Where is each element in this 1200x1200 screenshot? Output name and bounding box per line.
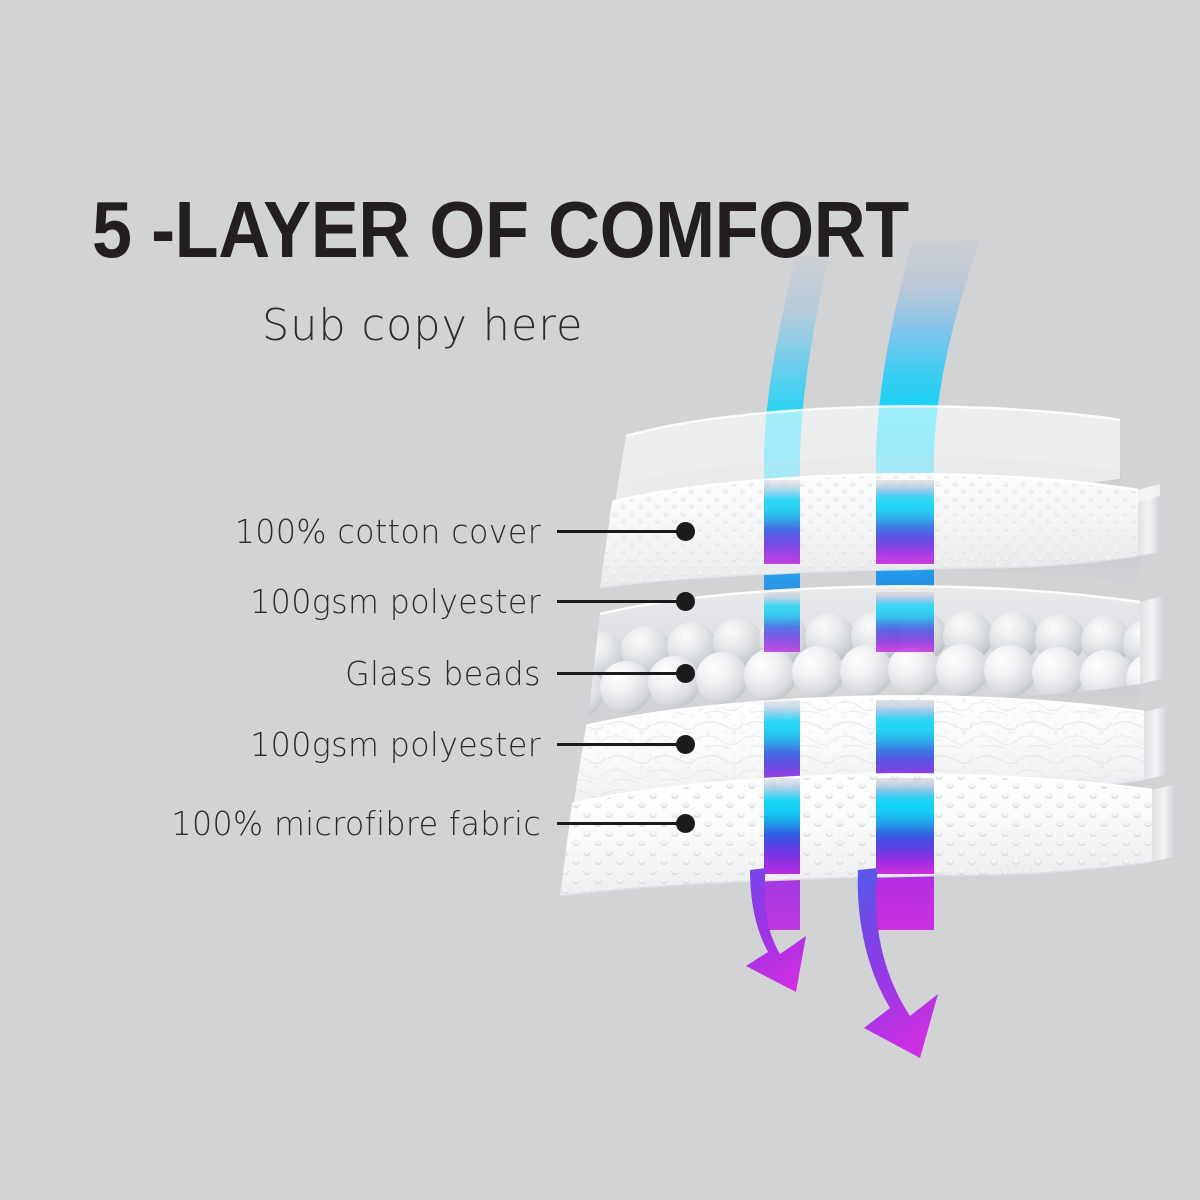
callout-polyester-bottom: 100gsm polyester — [0, 722, 541, 766]
leader-line-polyester-bottom — [557, 743, 689, 746]
leader-line-polyester-top — [557, 600, 689, 603]
callout-label-cotton-cover: 100% cotton cover — [235, 512, 541, 551]
leader-dot-polyester-bottom — [676, 735, 695, 754]
leader-dot-polyester-top — [676, 592, 695, 611]
leader-dot-microfibre-fabric — [676, 814, 695, 833]
callout-microfibre-fabric: 100% microfibre fabric — [0, 801, 541, 845]
leader-line-glass-beads — [557, 672, 689, 675]
callout-label-microfibre-fabric: 100% microfibre fabric — [171, 804, 541, 843]
callout-polyester-top: 100gsm polyester — [0, 579, 541, 623]
leader-dot-cotton-cover — [676, 522, 695, 541]
leader-line-microfibre-fabric — [557, 822, 689, 825]
callout-label-glass-beads: Glass beads — [345, 654, 541, 693]
callout-label-polyester-top: 100gsm polyester — [250, 582, 541, 621]
callout-list: 100% cotton cover 100gsm polyester Glass… — [0, 0, 1200, 1200]
callout-cotton-cover: 100% cotton cover — [0, 509, 541, 553]
infographic-canvas: 5 -LAYER OF COMFORT Sub copy here 100% c… — [0, 0, 1200, 1200]
leader-dot-glass-beads — [676, 664, 695, 683]
leader-line-cotton-cover — [557, 530, 689, 533]
callout-glass-beads: Glass beads — [0, 651, 541, 695]
callout-label-polyester-bottom: 100gsm polyester — [250, 725, 541, 764]
